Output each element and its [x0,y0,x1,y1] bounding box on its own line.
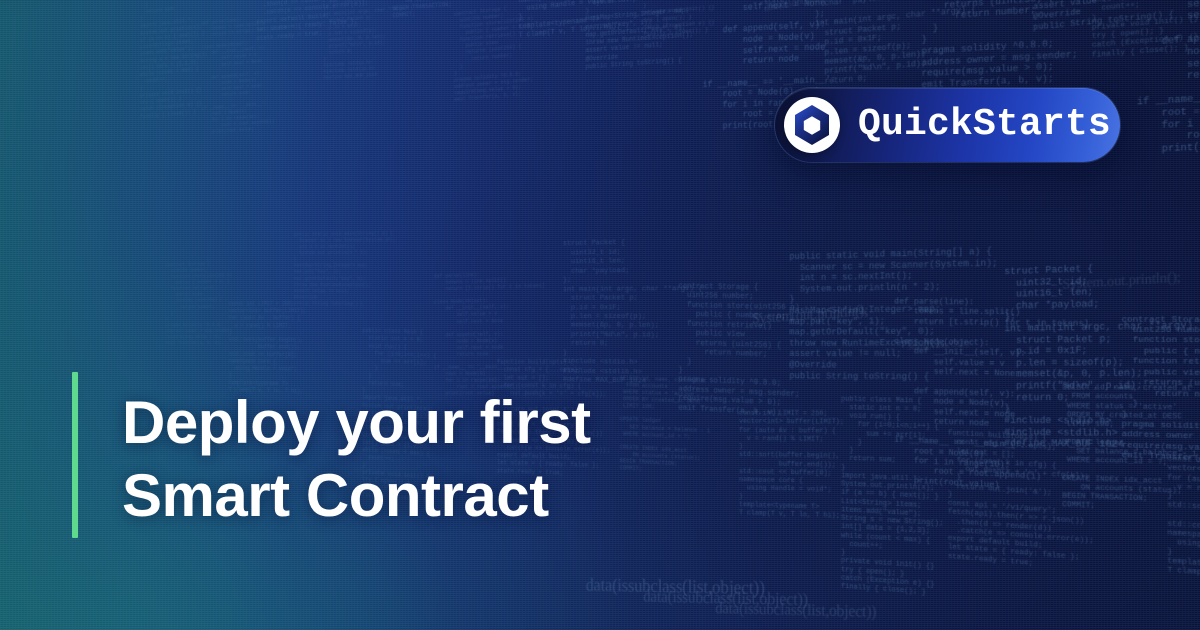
headline-line-1: Deploy your first [122,386,591,459]
headline-block: Deploy your first Smart Contract [72,372,591,538]
chainlink-hexagon-icon [793,104,831,146]
chainlink-logo-circle [784,97,840,153]
quickstarts-banner: public class Main { static int n = 0; vo… [0,0,1200,630]
quickstarts-badge[interactable]: QuickStarts [775,88,1120,162]
quickstarts-badge-label: QuickStarts [858,106,1111,144]
page-title: Deploy your first Smart Contract [122,372,591,538]
headline-line-2: Smart Contract [122,459,591,532]
green-accent-bar [72,372,78,538]
